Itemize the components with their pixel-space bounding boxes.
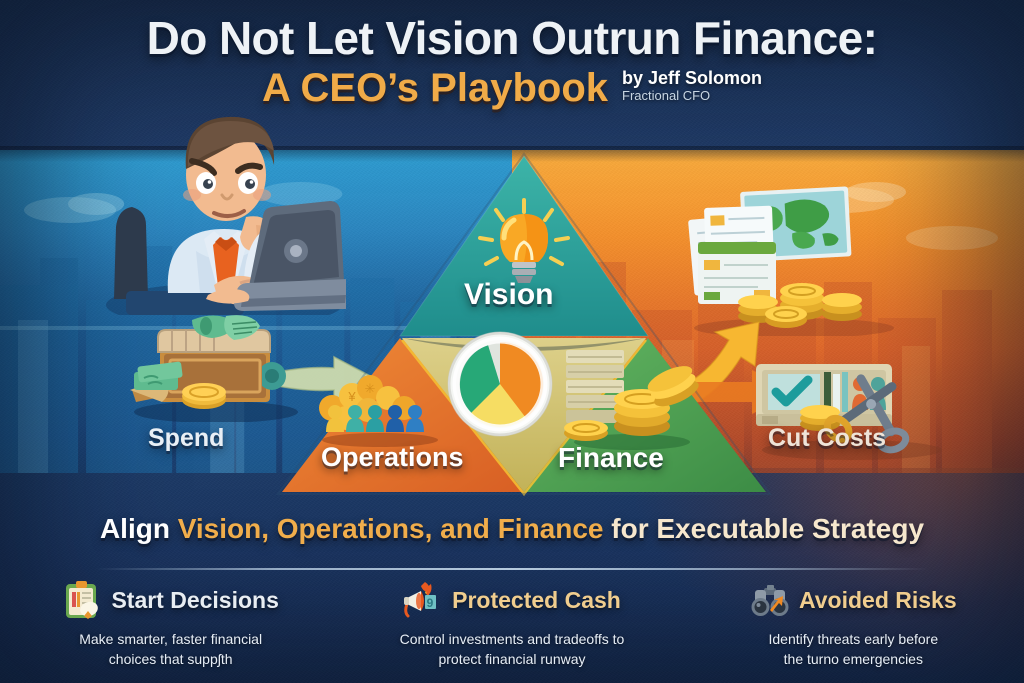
benefit-description: Control investments and tradeoffs to pro… xyxy=(355,629,668,670)
svg-text:¥: ¥ xyxy=(347,389,356,404)
section-divider xyxy=(96,568,928,570)
svg-text:9: 9 xyxy=(427,596,434,610)
cut-costs-label: Cut Costs xyxy=(768,424,886,453)
benefit-item: Avoided Risks Identify threats early bef… xyxy=(683,580,1024,670)
poster-title: Do Not Let Vision Outrun Finance: xyxy=(0,14,1024,62)
megaphone-icon: 9 xyxy=(403,580,443,620)
people-tokens-icon: ¥✳○ xyxy=(312,362,448,448)
benefit-description: Identify threats early before the turno … xyxy=(697,629,1010,670)
clipboard-checklist-icon xyxy=(62,580,102,620)
benefit-title: Start Decisions xyxy=(111,587,278,614)
author-role: Fractional CFO xyxy=(622,88,762,103)
benefit-desc-line-1: Control investments and tradeoffs to xyxy=(355,629,668,649)
strategy-triangle: ¥✳○ xyxy=(276,150,772,502)
benefit-description: Make smarter, faster financial choices t… xyxy=(14,629,327,670)
benefit-item: 9 Protected Cash Control investments and… xyxy=(341,580,682,670)
benefit-item: Start Decisions Make smarter, faster fin… xyxy=(0,580,341,670)
benefit-desc-line-2: the turno emergencies xyxy=(697,649,1010,669)
benefit-desc-line-1: Identify threats early before xyxy=(697,629,1010,649)
benefit-desc-line-2: choices that suppʃth xyxy=(14,649,327,669)
poster-subtitle: A CEO’s Playbook xyxy=(262,66,608,111)
tagline-part-1: Align xyxy=(100,513,178,544)
finance-label: Finance xyxy=(558,442,664,474)
benefits-row: Start Decisions Make smarter, faster fin… xyxy=(0,580,1024,670)
pie-chart-icon xyxy=(444,328,556,440)
benefit-desc-line-1: Make smarter, faster financial xyxy=(14,629,327,649)
benefit-title: Protected Cash xyxy=(452,587,621,614)
tagline-part-3: for Executable Strategy xyxy=(604,513,925,544)
svg-text:✳: ✳ xyxy=(365,381,376,396)
vision-label: Vision xyxy=(464,278,553,312)
author-name: by Jeff Solomon xyxy=(622,68,762,89)
spend-label: Spend xyxy=(148,424,224,453)
title-block: Do Not Let Vision Outrun Finance: A CEO’… xyxy=(0,14,1024,111)
tagline-part-2: Vision, Operations, and Finance xyxy=(178,513,604,544)
byline: by Jeff Solomon Fractional CFO xyxy=(622,68,762,112)
infographic-poster: Do Not Let Vision Outrun Finance: A CEO’… xyxy=(0,0,1024,683)
binoculars-icon xyxy=(750,580,790,620)
tagline: Align Vision, Operations, and Finance fo… xyxy=(0,513,1024,545)
operations-label: Operations xyxy=(321,442,464,473)
benefit-desc-line-2: protect financial runway xyxy=(355,649,668,669)
benefit-title: Avoided Risks xyxy=(799,587,957,614)
coins-stack-icon xyxy=(562,346,702,450)
